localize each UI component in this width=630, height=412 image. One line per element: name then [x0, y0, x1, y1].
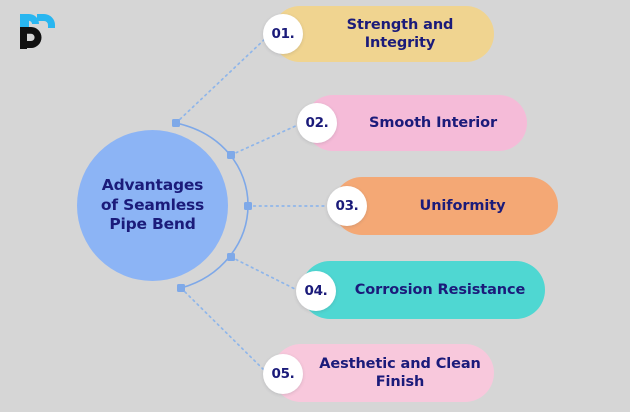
advantage-label-5-line-2: Finish	[376, 374, 425, 390]
advantage-badge-2[interactable]: 02.	[297, 103, 337, 143]
connector-node-1	[172, 119, 180, 127]
advantage-label-4: Corrosion Resistance	[355, 281, 526, 299]
advantage-label-1: Strength and Integrity	[347, 16, 454, 52]
hub-title-line-3: Pipe Bend	[109, 215, 195, 233]
advantage-label-3: Uniformity	[420, 197, 506, 215]
connector-node-3	[244, 202, 252, 210]
connector-node-4	[227, 253, 235, 261]
advantage-badge-1[interactable]: 01.	[263, 14, 303, 54]
central-hub: Advantages of Seamless Pipe Bend	[77, 130, 228, 281]
advantage-pill-2[interactable]: Smooth Interior	[305, 95, 527, 151]
advantage-label-1-line-2: Integrity	[365, 35, 435, 51]
connector-line-1	[176, 38, 266, 123]
connector-line-4	[231, 257, 299, 291]
advantage-pill-5[interactable]: Aesthetic and Clean Finish	[272, 344, 494, 402]
advantage-label-4-line-1: Corrosion Resistance	[355, 282, 526, 298]
infographic-canvas: Advantages of Seamless Pipe Bend Strengt…	[0, 0, 630, 412]
advantage-number-5: 05.	[271, 366, 294, 382]
advantage-label-3-line-1: Uniformity	[420, 198, 506, 214]
hub-title-line-2: of Seamless	[101, 196, 204, 214]
advantage-number-2: 02.	[305, 115, 328, 131]
advantage-label-2: Smooth Interior	[369, 114, 497, 132]
advantage-badge-3[interactable]: 03.	[327, 186, 367, 226]
advantage-badge-5[interactable]: 05.	[263, 354, 303, 394]
advantage-number-4: 04.	[304, 283, 327, 299]
advantage-label-5-line-1: Aesthetic and Clean	[319, 356, 481, 372]
advantage-number-1: 01.	[271, 26, 294, 42]
connector-line-5	[181, 288, 266, 372]
advantage-number-3: 03.	[335, 198, 358, 214]
advantage-label-2-line-1: Smooth Interior	[369, 115, 497, 131]
advantage-pill-4[interactable]: Corrosion Resistance	[301, 261, 545, 319]
advantage-pill-1[interactable]: Strength and Integrity	[272, 6, 494, 62]
connector-node-2	[227, 151, 235, 159]
advantage-label-5: Aesthetic and Clean Finish	[319, 355, 481, 391]
advantage-label-1-line-1: Strength and	[347, 17, 454, 33]
advantage-badge-4[interactable]: 04.	[296, 271, 336, 311]
hub-title-line-1: Advantages	[102, 176, 203, 194]
connector-line-2	[231, 124, 300, 155]
central-hub-title: Advantages of Seamless Pipe Bend	[95, 176, 210, 235]
connector-node-5	[177, 284, 185, 292]
